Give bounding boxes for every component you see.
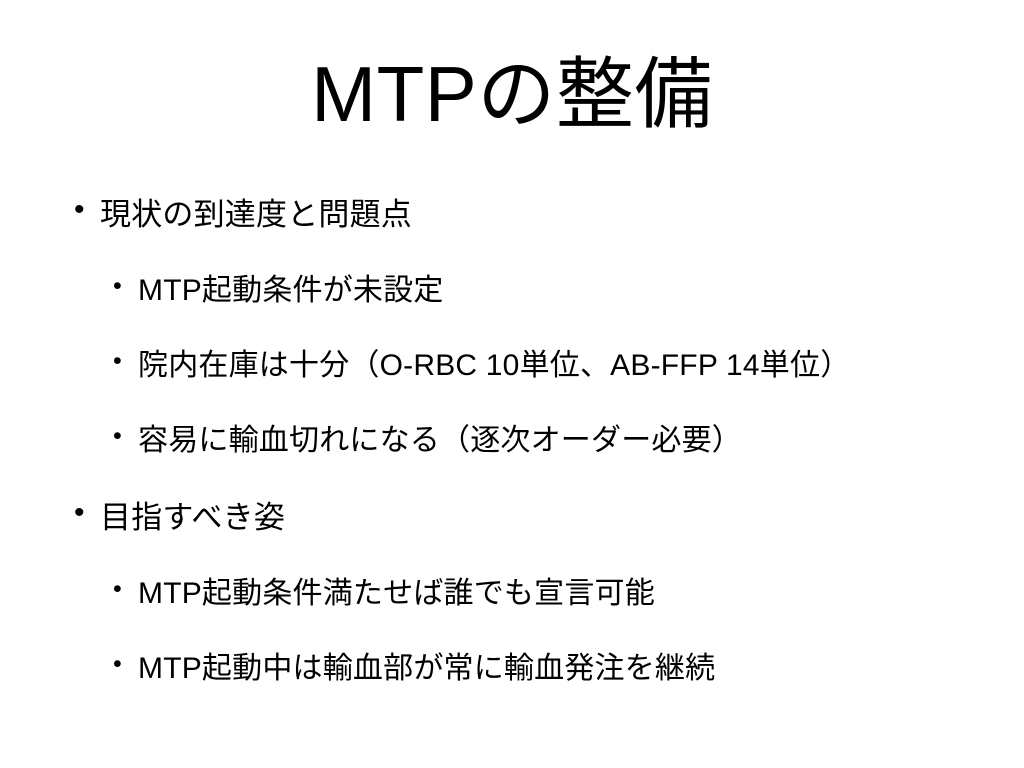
bullet-point-icon: • [113, 274, 138, 299]
bullet-item: • 院内在庫は十分（O-RBC 10単位、AB-FFP 14単位） [0, 347, 1024, 422]
bullet-item-label: MTP起動中は輸血部が常に輸血発注を継続 [138, 650, 715, 688]
bullet-point-icon: • [113, 577, 138, 602]
bullet-item: • 目指すべき姿 [0, 499, 1024, 575]
bullet-point-icon: • [113, 349, 138, 374]
bullet-point-icon: • [74, 498, 100, 528]
bullet-item: • MTP起動条件が未設定 [0, 272, 1024, 347]
bullet-item-label: 目指すべき姿 [100, 499, 285, 538]
bullet-item-label: MTP起動条件満たせば誰でも宣言可能 [138, 575, 655, 613]
bullet-item-label: 容易に輸血切れになる（逐次オーダー必要） [138, 422, 742, 460]
bullet-point-icon: • [74, 195, 100, 225]
bullet-point-icon: • [113, 652, 138, 677]
slide-title: MTPの整備 [0, 52, 1024, 136]
slide-canvas: MTPの整備 • 現状の到達度と問題点 • MTP起動条件が未設定 • 院内在庫… [0, 0, 1024, 768]
bullet-item-label: 院内在庫は十分（O-RBC 10単位、AB-FFP 14単位） [138, 347, 850, 385]
bullet-item: • 現状の到達度と問題点 [0, 196, 1024, 272]
bullet-item: • 容易に輸血切れになる（逐次オーダー必要） [0, 422, 1024, 497]
bullet-item: • MTP起動条件満たせば誰でも宣言可能 [0, 575, 1024, 650]
bullet-point-icon: • [113, 424, 138, 449]
bullet-list: • 現状の到達度と問題点 • MTP起動条件が未設定 • 院内在庫は十分（O-R… [0, 196, 1024, 725]
bullet-item-label: MTP起動条件が未設定 [138, 272, 444, 310]
bullet-item: • MTP起動中は輸血部が常に輸血発注を継続 [0, 650, 1024, 725]
bullet-item-label: 現状の到達度と問題点 [100, 196, 412, 235]
